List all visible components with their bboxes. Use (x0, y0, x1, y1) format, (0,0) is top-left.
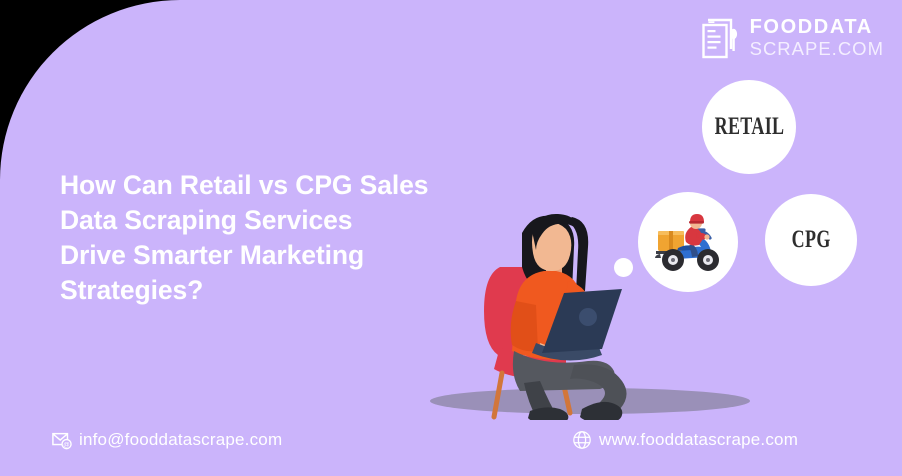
logo-line-2: SCRAPE.COM (750, 40, 884, 59)
cpg-badge: CPG (765, 194, 857, 286)
contact-email-text: info@fooddatascrape.com (79, 430, 282, 450)
contact-website-text: www.fooddatascrape.com (599, 430, 798, 450)
brand-logo[interactable]: FOODDATA SCRAPE.COM (701, 16, 884, 60)
brand-wordmark: FOODDATA SCRAPE.COM (750, 17, 884, 59)
cpg-badge-label: CPG (791, 226, 830, 254)
contact-email[interactable]: @ info@fooddatascrape.com (52, 430, 282, 450)
banner-root: FOODDATA SCRAPE.COM How Can Retail vs CP… (0, 0, 902, 476)
contact-website[interactable]: www.fooddatascrape.com (572, 430, 798, 450)
page-title: How Can Retail vs CPG Sales Data Scrapin… (60, 168, 490, 308)
email-at-icon: @ (52, 430, 72, 450)
headline-line-1: How Can Retail vs CPG Sales (60, 168, 490, 203)
logo-line-1: FOODDATA (750, 17, 884, 37)
retail-badge-label: RETAIL (714, 113, 784, 141)
headline-line-4: Strategies? (60, 273, 490, 308)
thought-bubble-dot (614, 258, 633, 277)
retail-badge: RETAIL (702, 80, 796, 174)
headline-line-3: Drive Smarter Marketing (60, 238, 490, 273)
headline-line-2: Data Scraping Services (60, 203, 490, 238)
delivery-scooter-icon (649, 203, 727, 281)
menu-document-fork-spoon-icon (701, 16, 741, 60)
scooter-bubble (638, 192, 738, 292)
svg-text:@: @ (63, 442, 70, 449)
globe-icon (572, 430, 592, 450)
